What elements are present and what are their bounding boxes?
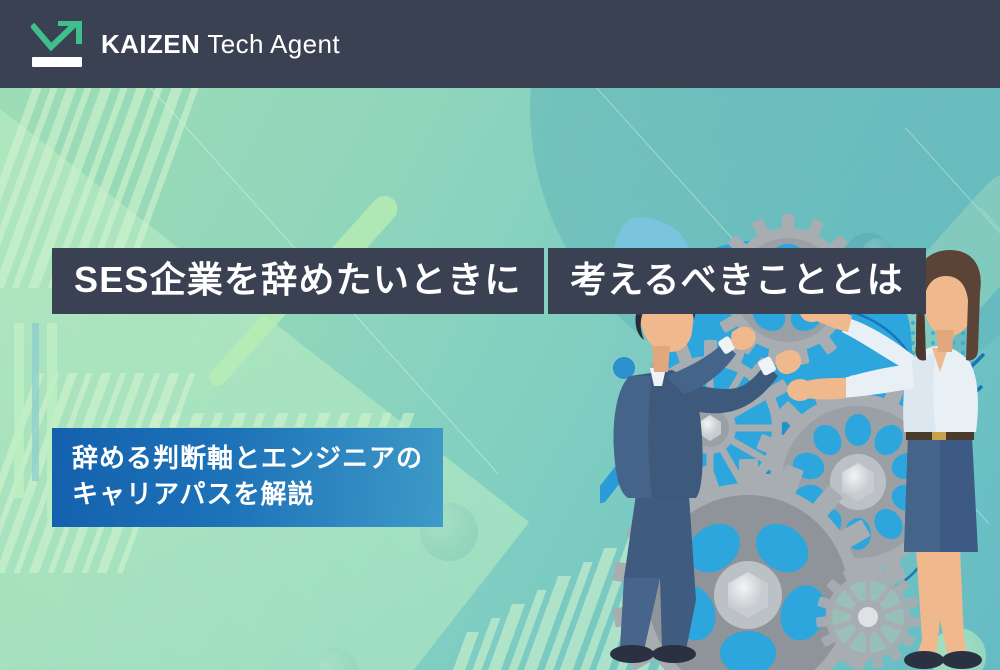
hero-title-line-1: SES企業を辞めたいときに [52, 248, 544, 314]
hero-banner: KAIZEN Tech Agent SES企業を辞めたいときに 考えるべきことと… [0, 0, 1000, 670]
brand-name-light: Tech Agent [200, 29, 340, 59]
hero-subtitle: 辞める判断軸とエンジニアの キャリアパスを解説 [52, 428, 443, 527]
brand-name: KAIZEN Tech Agent [101, 31, 340, 57]
stripe-group-subtitle-band [145, 413, 475, 427]
hero-title-line-2: 考えるべきこととは [548, 248, 926, 314]
site-header: KAIZEN Tech Agent [0, 0, 1000, 88]
growth-arrow-icon [31, 21, 87, 67]
hero-title: SES企業を辞めたいときに 考えるべきこととは [52, 236, 926, 314]
chip-dot-1 [613, 357, 635, 379]
hero-subtitle-line-1: 辞める判断軸とエンジニアの [72, 441, 423, 477]
hero-subtitle-line-2: キャリアパスを解説 [72, 477, 423, 513]
brand-name-bold: KAIZEN [101, 29, 200, 59]
logo[interactable]: KAIZEN Tech Agent [31, 21, 340, 67]
logo-underline-bar [32, 57, 82, 67]
